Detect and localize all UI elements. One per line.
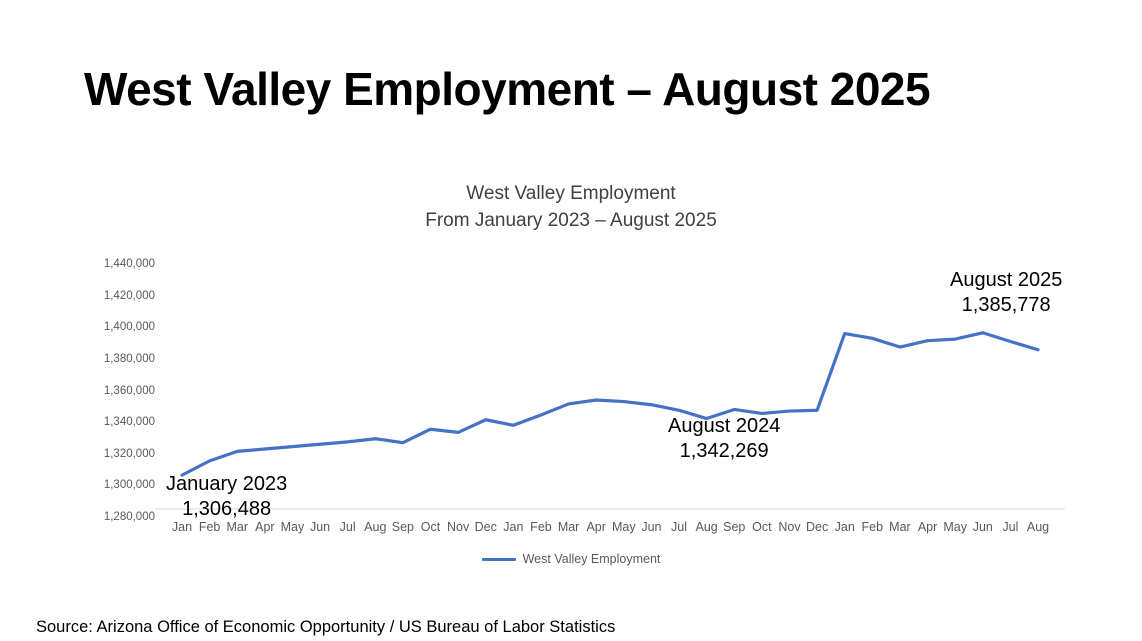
x-axis-tick-label: Apr [586, 520, 605, 534]
y-axis-tick-label: 1,320,000 [80, 448, 155, 460]
x-axis-tick-label: Jul [1002, 520, 1018, 534]
y-axis-tick-label: 1,300,000 [80, 479, 155, 491]
y-axis-tick-label: 1,440,000 [80, 258, 155, 270]
x-axis-tick-label: Dec [806, 520, 828, 534]
x-axis-tick-label: Oct [752, 520, 771, 534]
x-axis-tick-label: Feb [862, 520, 884, 534]
x-axis-tick-label: Mar [558, 520, 580, 534]
x-axis-tick-label: Sep [392, 520, 414, 534]
x-axis-tick-label: Jun [310, 520, 330, 534]
x-axis-tick-label: May [943, 520, 967, 534]
x-axis-tick-label: Apr [255, 520, 274, 534]
x-axis-tick-label: Mar [226, 520, 248, 534]
x-axis-tick-label: Dec [475, 520, 497, 534]
y-axis-tick-label: 1,340,000 [80, 416, 155, 428]
x-axis-tick-label: Feb [530, 520, 552, 534]
series-line-west-valley-employment [182, 333, 1038, 475]
source-note: Source: Arizona Office of Economic Oppor… [36, 618, 615, 637]
x-axis-tick-label: Jul [671, 520, 687, 534]
chart-legend: West Valley Employment [0, 552, 1142, 566]
legend-label-west-valley-employment: West Valley Employment [523, 552, 661, 566]
x-axis-tick-label: Jun [641, 520, 661, 534]
x-axis-tick-label: Jun [973, 520, 993, 534]
annotation-august-2024-label: August 2024 [668, 415, 780, 437]
x-axis-tick-label: Jul [340, 520, 356, 534]
page-title: West Valley Employment – August 2025 [84, 62, 930, 116]
annotation-august-2024: August 2024 1,342,269 [668, 414, 780, 464]
legend-swatch-west-valley-employment [482, 558, 516, 561]
x-axis-tick-label: Mar [889, 520, 911, 534]
y-axis-tick-label: 1,400,000 [80, 321, 155, 333]
y-axis-tick-label: 1,420,000 [80, 290, 155, 302]
x-axis-tick-label: Jan [172, 520, 192, 534]
x-axis-tick-label: May [281, 520, 305, 534]
x-axis-tick-label: May [612, 520, 636, 534]
x-axis: JanFebMarAprMayJunJulAugSepOctNovDecJanF… [0, 520, 1142, 542]
x-axis-tick-label: Aug [1027, 520, 1049, 534]
x-axis-tick-label: Aug [696, 520, 718, 534]
annotation-august-2024-value: 1,342,269 [668, 439, 780, 464]
annotation-january-2023-value: 1,306,488 [166, 497, 287, 522]
annotation-august-2025-label: August 2025 [950, 269, 1062, 291]
x-axis-tick-label: Nov [447, 520, 469, 534]
x-axis-tick-label: Sep [723, 520, 745, 534]
y-axis-tick-label: 1,360,000 [80, 385, 155, 397]
x-axis-tick-label: Apr [918, 520, 937, 534]
annotation-august-2025-value: 1,385,778 [950, 293, 1062, 318]
x-axis-tick-label: Oct [421, 520, 440, 534]
x-axis-tick-label: Feb [199, 520, 221, 534]
x-axis-tick-label: Aug [364, 520, 386, 534]
x-axis-tick-label: Jan [835, 520, 855, 534]
y-axis-tick-label: 1,380,000 [80, 353, 155, 365]
y-axis: 1,440,0001,420,0001,400,0001,380,0001,36… [80, 160, 155, 580]
x-axis-tick-label: Nov [778, 520, 800, 534]
annotation-january-2023: January 2023 1,306,488 [166, 472, 287, 522]
annotation-january-2023-label: January 2023 [166, 473, 287, 495]
x-axis-tick-label: Jan [503, 520, 523, 534]
annotation-august-2025: August 2025 1,385,778 [950, 268, 1062, 318]
